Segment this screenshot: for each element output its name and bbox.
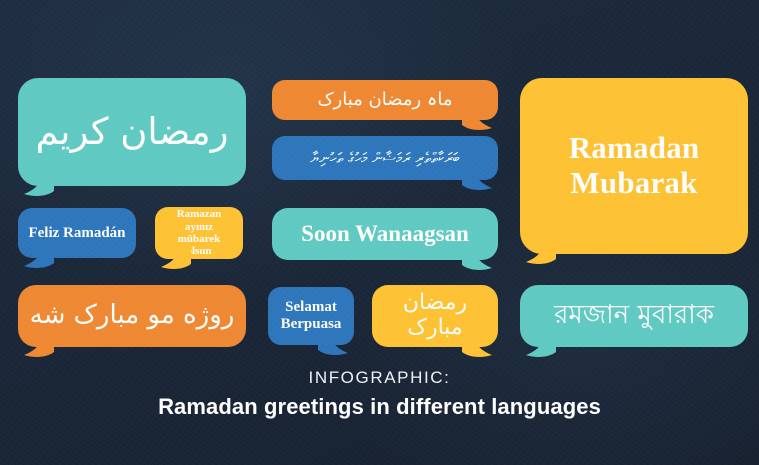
bubble-tail-icon <box>24 336 54 358</box>
bubble-tail-icon <box>462 336 492 358</box>
greeting-bubble-turkish: Ramazan ayınız mübarek olsun <box>155 207 243 259</box>
greeting-bubble-english: Ramadan Mubarak <box>520 78 748 254</box>
caption-eyebrow: INFOGRAPHIC: <box>0 368 759 388</box>
bubble-tail-icon <box>318 334 348 356</box>
greeting-text-persian: رمضان مبارک <box>382 291 488 340</box>
greeting-text-somali: Soon Wanaagsan <box>301 221 469 247</box>
bubble-tail-icon <box>24 247 54 269</box>
greeting-bubble-spanish: Feliz Ramadán <box>18 208 136 258</box>
caption-title: Ramadan greetings in different languages <box>0 394 759 420</box>
greeting-text-english: Ramadan Mubarak <box>530 131 738 200</box>
bubble-tail-icon <box>161 248 191 270</box>
greeting-bubble-persian: رمضان مبارک <box>372 285 498 347</box>
greeting-bubble-urdu: ماہ رمضان مبارک <box>272 80 498 120</box>
greeting-bubble-dhivehi: ބަރަކާތްތެރި ރަމަޟާން މަހުގެ ތަހުނިޔާ <box>272 136 498 180</box>
greeting-bubble-arabic: رمضان كريم <box>18 78 246 186</box>
infographic-canvas: رمضان كريم ماہ رمضان مبارک ބަރަކާތްތެރި … <box>0 0 759 465</box>
bubble-tail-icon <box>24 175 54 197</box>
greeting-text-bengali: রমজান মুবারাক <box>554 301 714 330</box>
greeting-bubble-bengali: রমজান মুবারাক <box>520 285 748 347</box>
greeting-bubble-somali: Soon Wanaagsan <box>272 208 498 260</box>
caption-block: INFOGRAPHIC: Ramadan greetings in differ… <box>0 368 759 420</box>
greeting-text-dhivehi: ބަރަކާތްތެރި ރަމަޟާން މަހުގެ ތަހުނިޔާ <box>310 150 459 167</box>
greeting-text-malay: Selamat Berpuasa <box>278 299 344 333</box>
bubble-tail-icon <box>526 336 556 358</box>
greeting-text-arabic: رمضان كريم <box>36 111 229 152</box>
bubble-tail-icon <box>462 169 492 191</box>
bubble-tail-icon <box>462 249 492 271</box>
greeting-text-spanish: Feliz Ramadán <box>28 225 125 242</box>
bubble-tail-icon <box>526 243 556 265</box>
greeting-bubble-pashto: روژه مو مبارک شه <box>18 285 246 347</box>
bubble-tail-icon <box>462 109 492 131</box>
greeting-text-urdu: ماہ رمضان مبارک <box>317 90 452 110</box>
greeting-text-pashto: روژه مو مبارک شه <box>30 301 235 330</box>
greeting-bubble-malay: Selamat Berpuasa <box>268 287 354 345</box>
